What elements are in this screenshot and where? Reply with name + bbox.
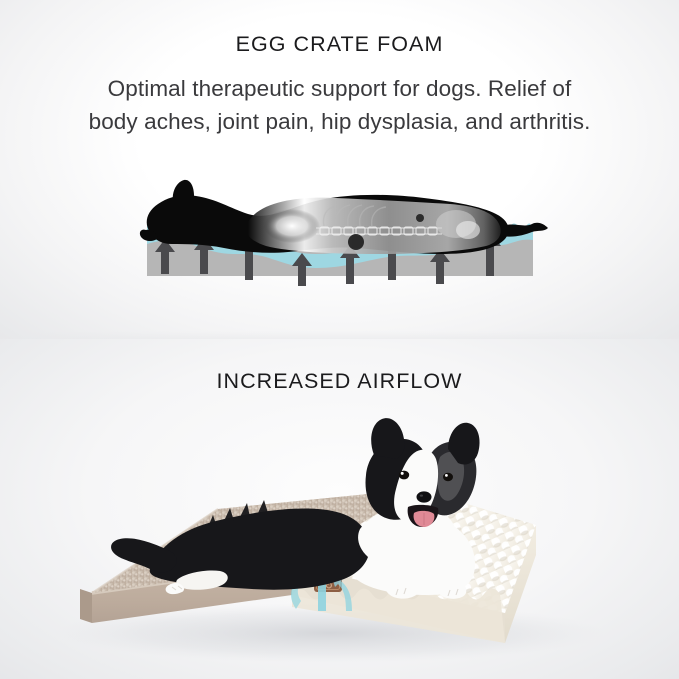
dog-eye-right: [443, 473, 453, 481]
subheading-text: Optimal therapeutic support for dogs. Re…: [36, 72, 643, 138]
section-title-airflow: INCREASED AIRFLOW: [0, 369, 679, 394]
page-title: EGG CRATE FOAM: [0, 32, 679, 57]
dog-nose: [417, 491, 432, 502]
egg-crate-foam-panel: EGG CRATE FOAM Optimal therapeutic suppo…: [0, 0, 679, 339]
infographic-page: EGG CRATE FOAM Optimal therapeutic suppo…: [0, 0, 679, 679]
dog-spine-support-diagram: [120, 168, 560, 313]
dog-eye-left: [399, 471, 409, 480]
subheading-line-1: Optimal therapeutic support for dogs. Re…: [108, 76, 572, 101]
subheading-line-2: body aches, joint pain, hip dysplasia, a…: [89, 109, 591, 134]
increased-airflow-panel: INCREASED AIRFLOW: [0, 339, 679, 679]
border-collie-on-egg-crate-dog-bed: [0, 397, 679, 679]
dog-ear-left: [371, 418, 404, 459]
